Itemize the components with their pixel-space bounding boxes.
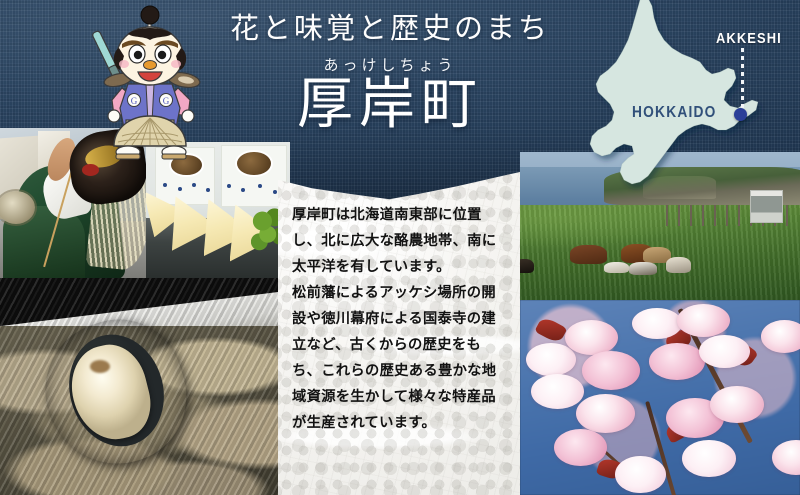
map-leader-dotted-line xyxy=(741,48,744,110)
akkeshi-mascot-character: G G xyxy=(88,4,212,162)
horse xyxy=(629,262,657,275)
photo-akkeshi-oysters xyxy=(0,278,290,495)
hokkaido-map: HOKKAIDO AKKESHI xyxy=(548,0,800,192)
hokkaido-landmass-shape xyxy=(590,0,758,184)
svg-text:G: G xyxy=(131,96,138,106)
description-text: 厚岸町は北海道南東部に位置し、北に広大な酪農地帯、南に太平洋を有しています。 松… xyxy=(278,170,520,436)
horse xyxy=(570,245,606,264)
tagline: 花と味覚と歴史のまち xyxy=(212,14,568,46)
horse xyxy=(604,262,629,274)
header-title-block: 花と味覚と歴史のまち あっけしちょう 厚岸町 xyxy=(212,8,568,156)
horse xyxy=(666,257,691,273)
svg-text:G: G xyxy=(163,96,170,106)
horse xyxy=(520,259,534,274)
description-panel: 厚岸町は北海道南東部に位置し、北に広大な酪農地帯、南に太平洋を有しています。 松… xyxy=(278,170,520,495)
map-label-akkeshi: AKKESHI xyxy=(716,30,782,47)
map-pin-dot-icon xyxy=(734,108,747,121)
map-label-hokkaido: HOKKAIDO xyxy=(632,104,717,122)
description-paragraph-2: 松前藩によるアッケシ場所の開設や徳川幕府による国泰寺の建立など、古くからの歴史を… xyxy=(292,280,506,436)
akkeshi-promotional-banner: HOKKAIDO AKKESHI xyxy=(0,0,800,495)
description-paragraph-1: 厚岸町は北海道南東部に位置し、北に広大な酪農地帯、南に太平洋を有しています。 xyxy=(292,202,506,280)
photo-cherry-blossoms xyxy=(520,300,800,495)
town-name: 厚岸町 xyxy=(212,77,568,133)
town-name-kana: あっけしちょう xyxy=(212,54,568,75)
photo-cheese-products xyxy=(146,142,290,278)
